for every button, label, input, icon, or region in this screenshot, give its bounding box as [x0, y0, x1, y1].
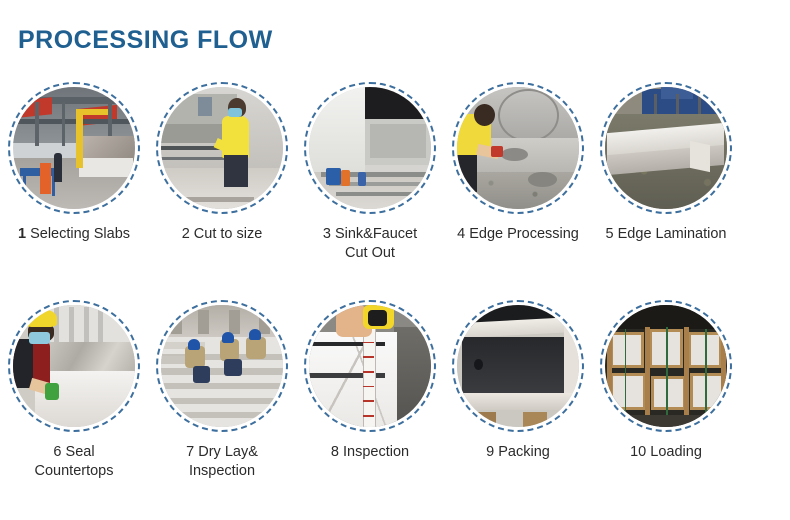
- photo-edge-lamination: [605, 87, 727, 209]
- step-number-2: 2: [182, 226, 190, 242]
- step-caption-7: 7 Dry Lay& Inspection: [186, 443, 258, 481]
- step-label-10: Loading: [650, 444, 702, 460]
- step-circle-1: [8, 82, 140, 214]
- step-circle-2: [156, 82, 288, 214]
- step-number-10: 10: [630, 444, 646, 460]
- step-number-5: 5: [606, 226, 614, 242]
- photo-seal-countertops: [13, 305, 135, 427]
- step-caption-9: 9 Packing: [486, 443, 550, 462]
- step-caption-8: 8 Inspection: [331, 443, 409, 462]
- step-caption-1: 1 Selecting Slabs: [18, 225, 130, 244]
- flow-step-9[interactable]: 9 Packing: [444, 300, 592, 481]
- flow-step-8[interactable]: 8 Inspection: [296, 300, 444, 481]
- process-flow-row-2: 6 Seal Countertops: [0, 300, 790, 481]
- photo-inspection: [309, 305, 431, 427]
- photo-cut-to-size: [161, 87, 283, 209]
- photo-dry-lay-inspection: [161, 305, 283, 427]
- step-circle-7: [156, 300, 288, 432]
- step-caption-10: 10 Loading: [630, 443, 702, 462]
- step-number-4: 4: [457, 226, 465, 242]
- photo-packing: [457, 305, 579, 427]
- step-number-8: 8: [331, 444, 339, 460]
- step-caption-6: 6 Seal Countertops: [35, 443, 114, 481]
- step-number-9: 9: [486, 444, 494, 460]
- step-label-9: Packing: [498, 444, 550, 460]
- step-label-1: Selecting Slabs: [30, 226, 130, 242]
- step-label-7: Dry Lay& Inspection: [189, 444, 258, 479]
- flow-step-3[interactable]: 3 Sink&Faucet Cut Out: [296, 82, 444, 263]
- photo-edge-processing: [457, 87, 579, 209]
- step-label-5: Edge Lamination: [618, 226, 727, 242]
- flow-step-5[interactable]: 5 Edge Lamination: [592, 82, 740, 263]
- flow-step-10[interactable]: 10 Loading: [592, 300, 740, 481]
- step-caption-2: 2 Cut to size: [182, 225, 263, 244]
- step-caption-3: 3 Sink&Faucet Cut Out: [323, 225, 417, 263]
- step-caption-5: 5 Edge Lamination: [606, 225, 727, 244]
- step-number-1: 1: [18, 226, 26, 242]
- step-circle-5: [600, 82, 732, 214]
- photo-selecting-slabs: [13, 87, 135, 209]
- step-circle-4: [452, 82, 584, 214]
- flow-step-4[interactable]: 4 Edge Processing: [444, 82, 592, 263]
- step-number-7: 7: [186, 444, 194, 460]
- step-circle-10: [600, 300, 732, 432]
- process-flow-row-1: 1 Selecting Slabs 2 Cut to size: [0, 82, 790, 263]
- flow-step-1[interactable]: 1 Selecting Slabs: [0, 82, 148, 263]
- step-label-6: Seal Countertops: [35, 444, 114, 479]
- step-number-3: 3: [323, 226, 331, 242]
- step-circle-9: [452, 300, 584, 432]
- flow-step-2[interactable]: 2 Cut to size: [148, 82, 296, 263]
- step-circle-6: [8, 300, 140, 432]
- step-label-8: Inspection: [343, 444, 409, 460]
- step-label-2: Cut to size: [194, 226, 263, 242]
- page-title: PROCESSING FLOW: [18, 26, 273, 55]
- step-label-4: Edge Processing: [469, 226, 579, 242]
- flow-step-6[interactable]: 6 Seal Countertops: [0, 300, 148, 481]
- flow-step-7[interactable]: 7 Dry Lay& Inspection: [148, 300, 296, 481]
- step-number-6: 6: [53, 444, 61, 460]
- step-label-3: Sink&Faucet Cut Out: [335, 226, 417, 261]
- photo-sink-faucet-cut-out: [309, 87, 431, 209]
- step-circle-3: [304, 82, 436, 214]
- step-circle-8: [304, 300, 436, 432]
- step-caption-4: 4 Edge Processing: [457, 225, 579, 244]
- photo-loading: [605, 305, 727, 427]
